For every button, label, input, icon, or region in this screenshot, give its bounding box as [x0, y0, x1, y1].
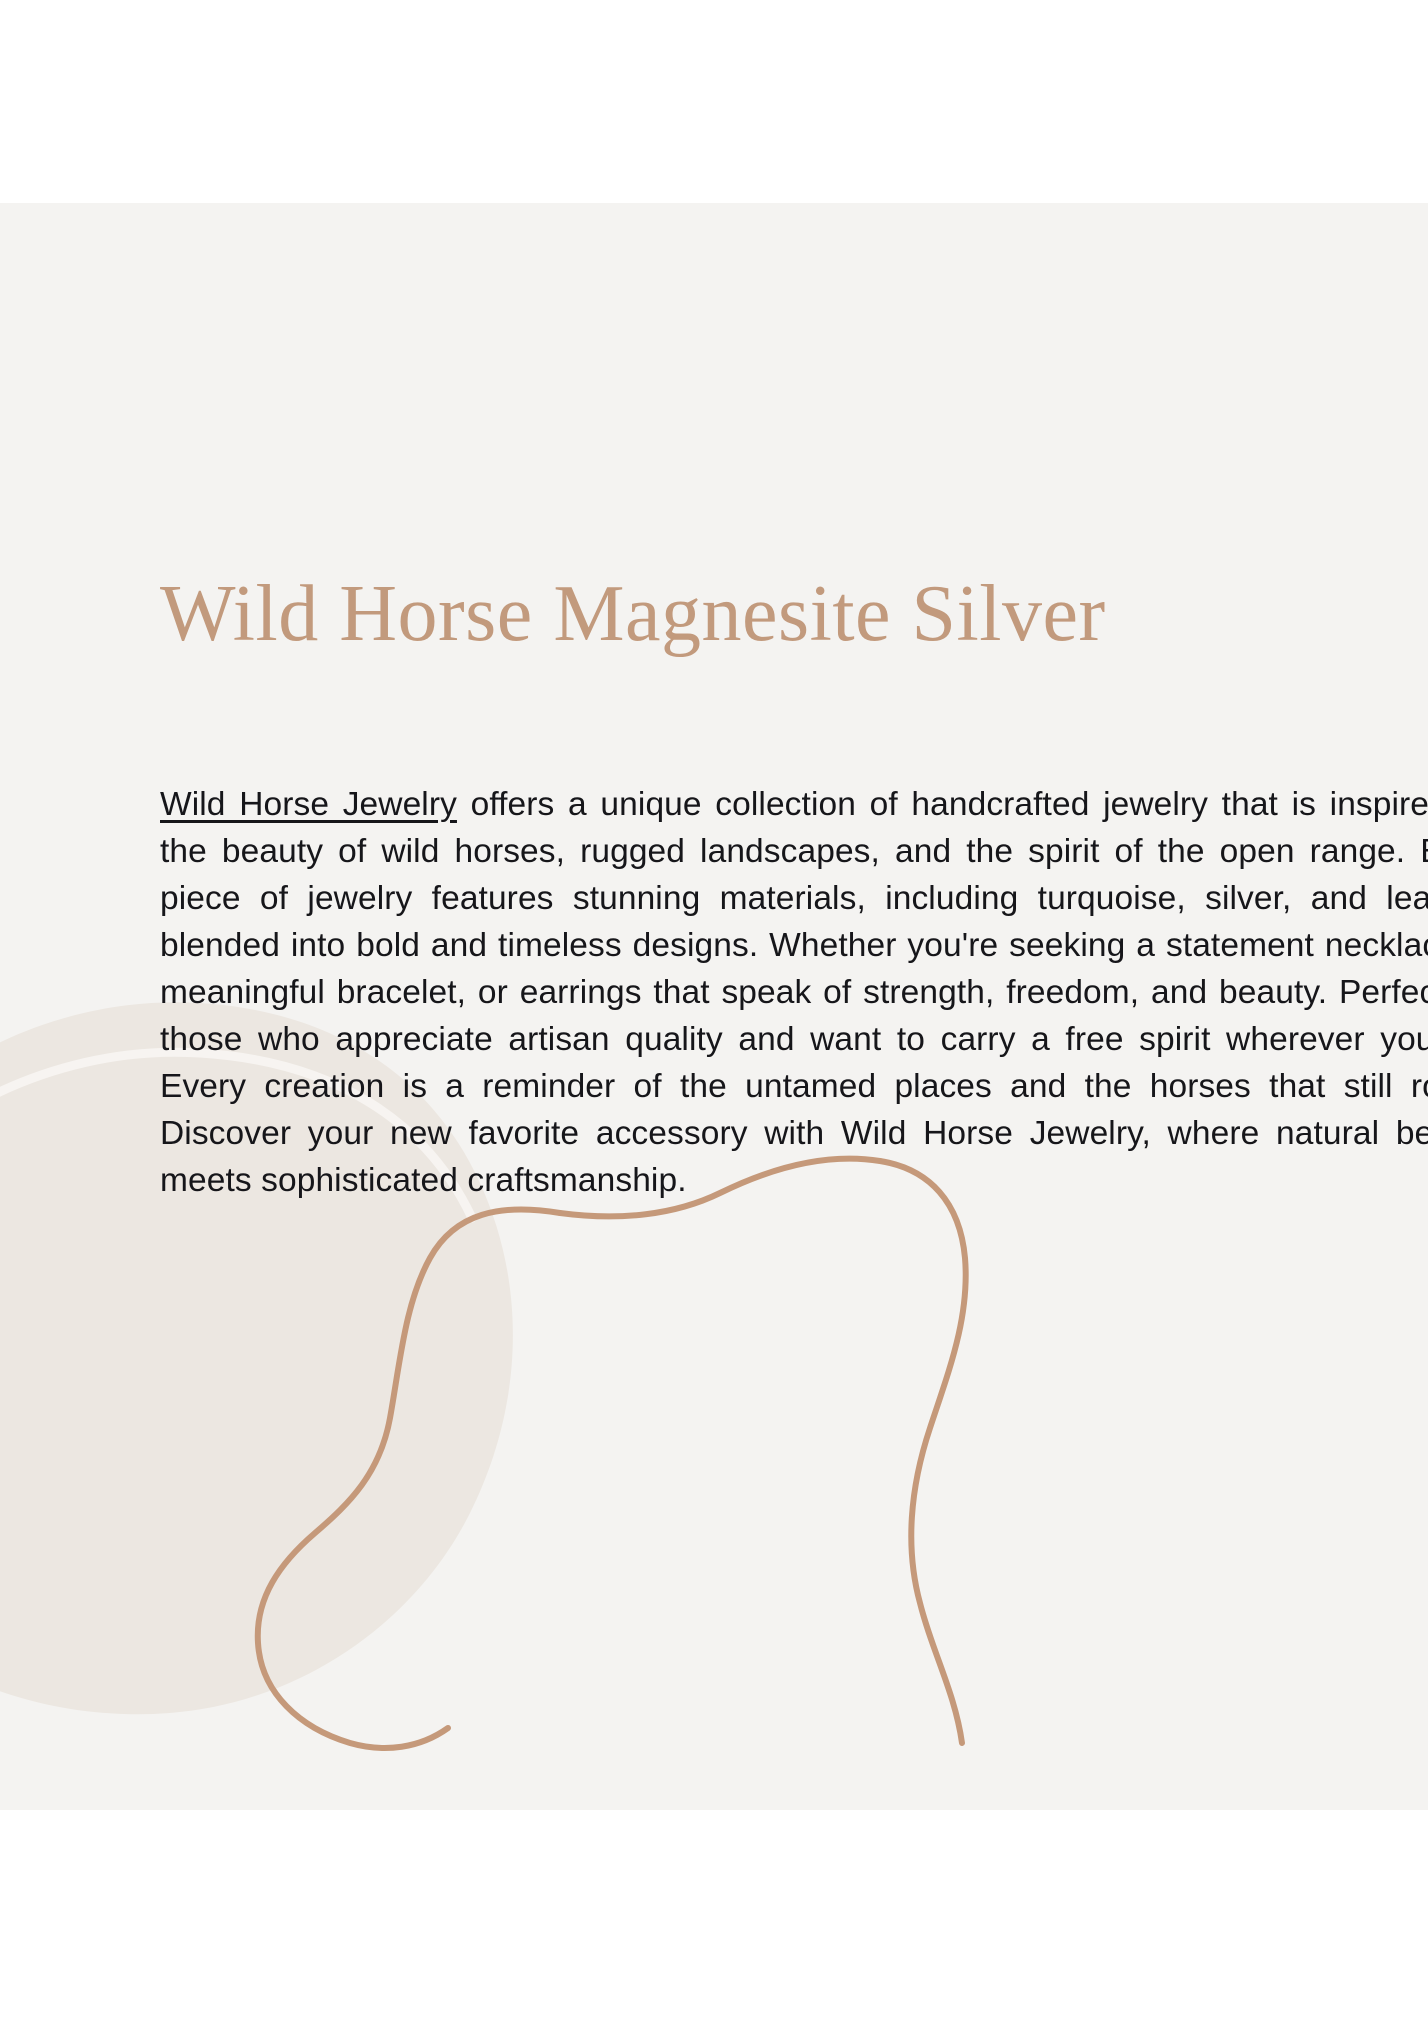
page-title: Wild Horse Magnesite Silver: [160, 571, 1428, 657]
article-body-text: offers a unique collection of handcrafte…: [160, 786, 1428, 1199]
page-root: Wild Horse Magnesite Silver Wild Horse J…: [0, 0, 1428, 2018]
article-body: Wild Horse Jewelry offers a unique colle…: [160, 781, 1428, 1204]
organic-outline-curve-right: [880, 1161, 966, 1743]
content-panel: Wild Horse Magnesite Silver Wild Horse J…: [0, 203, 1428, 1810]
brand-link[interactable]: Wild Horse Jewelry: [160, 786, 457, 823]
organic-outline-curve-left: [258, 1209, 560, 1748]
